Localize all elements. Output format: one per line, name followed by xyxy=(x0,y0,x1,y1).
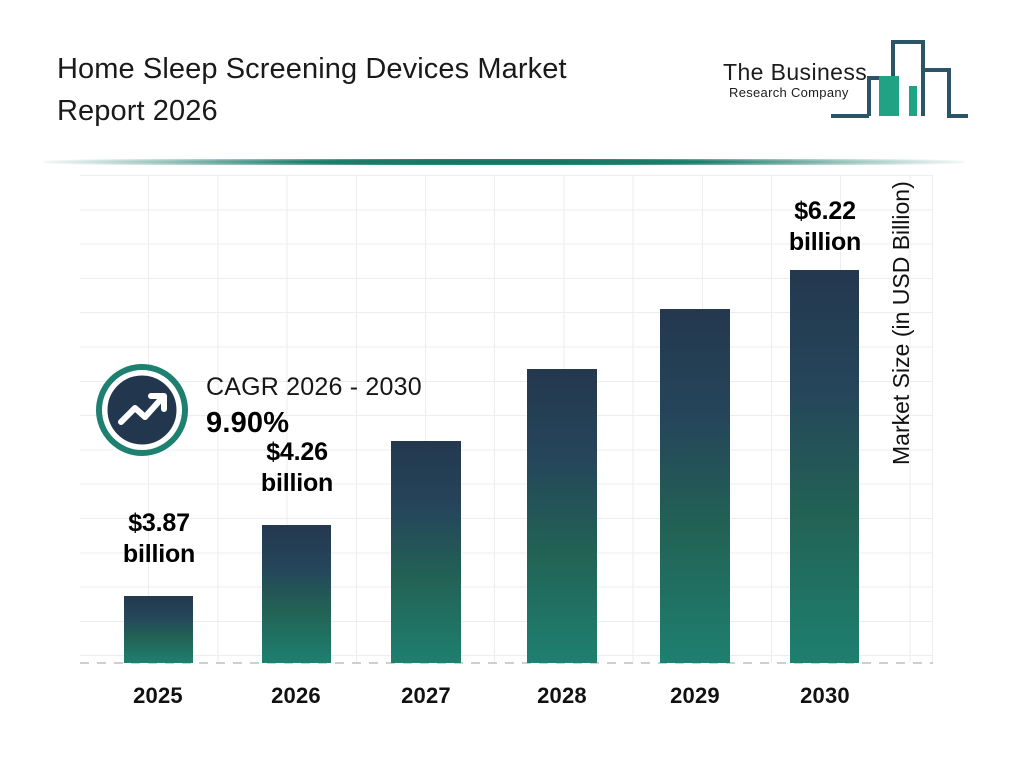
cagr-value: 9.90% xyxy=(206,404,496,442)
bar-2026 xyxy=(262,525,331,663)
header: Home Sleep Screening Devices Market Repo… xyxy=(0,0,1024,160)
bar-2028 xyxy=(527,369,597,663)
trending-up-icon xyxy=(96,364,188,456)
company-logo: The Business Research Company xyxy=(723,32,968,132)
x-axis-label-2028: 2028 xyxy=(512,683,612,709)
bar-2030 xyxy=(790,270,859,663)
bar-2025 xyxy=(124,596,193,663)
x-axis-label-2027: 2027 xyxy=(376,683,476,709)
bar-value-label-2030: $6.22 billion xyxy=(764,196,886,258)
x-axis-label-2025: 2025 xyxy=(108,683,208,709)
x-axis-label-2029: 2029 xyxy=(645,683,745,709)
cagr-text-block: CAGR 2026 - 2030 9.90% xyxy=(206,370,496,442)
bar-value-label-2025: $3.87 billion xyxy=(98,508,220,570)
chart-page: Home Sleep Screening Devices Market Repo… xyxy=(0,0,1024,768)
cagr-period-label: CAGR 2026 - 2030 xyxy=(206,370,496,404)
bar-2029 xyxy=(660,309,730,663)
x-axis-label-2030: 2030 xyxy=(775,683,875,709)
page-title: Home Sleep Screening Devices Market Repo… xyxy=(57,48,657,132)
bar-chart: $3.87 billion $4.26 billion $6.22 billio… xyxy=(0,160,1024,768)
bar-2027 xyxy=(391,441,461,663)
cagr-callout: CAGR 2026 - 2030 9.90% xyxy=(96,364,496,474)
y-axis-title: Market Size (in USD Billion) xyxy=(888,65,915,465)
x-axis-label-2026: 2026 xyxy=(246,683,346,709)
